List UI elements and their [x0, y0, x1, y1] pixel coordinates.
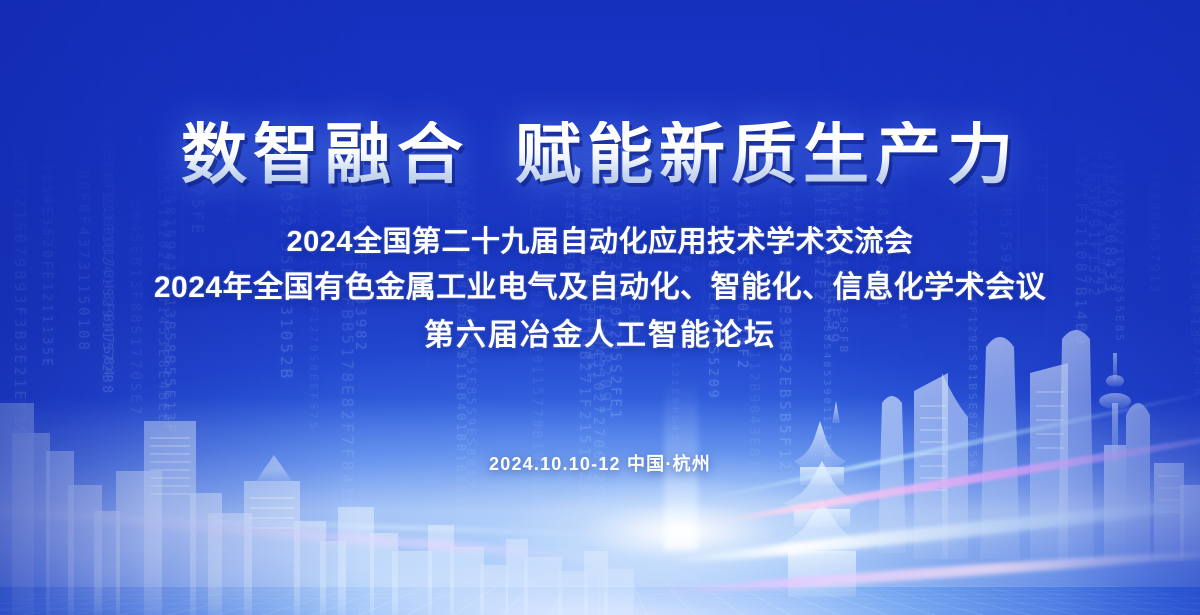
page-title: 数智融合赋能新质生产力: [0, 121, 1200, 187]
date-location: 2024.10.10-12 中国·杭州: [0, 450, 1200, 476]
subtitle-line-1: 2024全国第二十九届自动化应用技术学术交流会: [0, 218, 1200, 260]
main-title-part-1: 数智融合: [181, 117, 469, 191]
main-title-part-2: 赋能新质生产力: [515, 117, 1019, 191]
light-burst: [300, 417, 1060, 615]
subtitle-line-3: 第六届冶金人工智能论坛: [0, 310, 1200, 354]
matrix-column: 101259341259B: [670, 0, 683, 133]
subtitle-line-2: 2024年全国有色金属工业电气及自动化、智能化、信息化学术会议: [0, 262, 1200, 306]
conference-banner: 747905BF2B7BF7S31854E3520FE1211135EB7427…: [0, 0, 1200, 615]
